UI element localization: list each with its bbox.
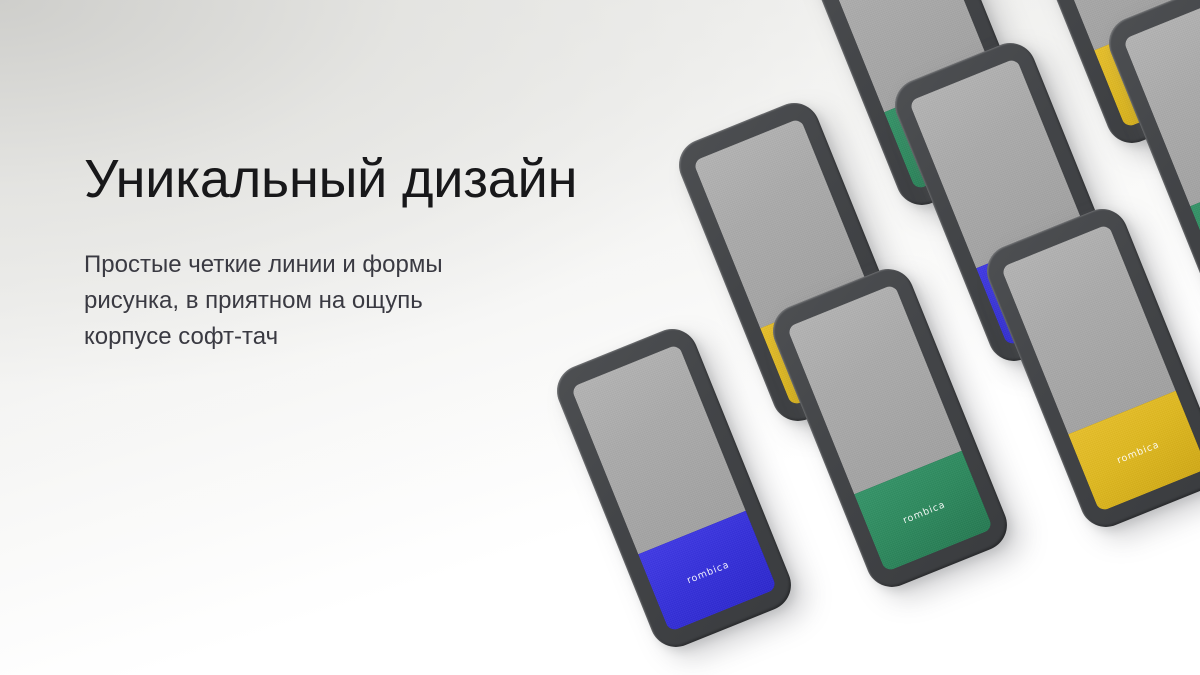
rombica-logo: rombica [1116, 440, 1162, 467]
device-panel: rombica [787, 284, 993, 572]
device-grid: rombicarombicarombicarombicarombicarombi… [0, 0, 1200, 675]
device-screen-area [1123, 0, 1200, 206]
rombica-logo: rombica [902, 500, 948, 527]
device-panel: rombica [571, 344, 777, 632]
device-panel: rombica [1001, 224, 1200, 512]
hero-banner: Уникальный дизайн Простые четкие линии и… [0, 0, 1200, 675]
product-device: rombica [979, 201, 1200, 535]
rombica-logo: rombica [686, 560, 732, 587]
